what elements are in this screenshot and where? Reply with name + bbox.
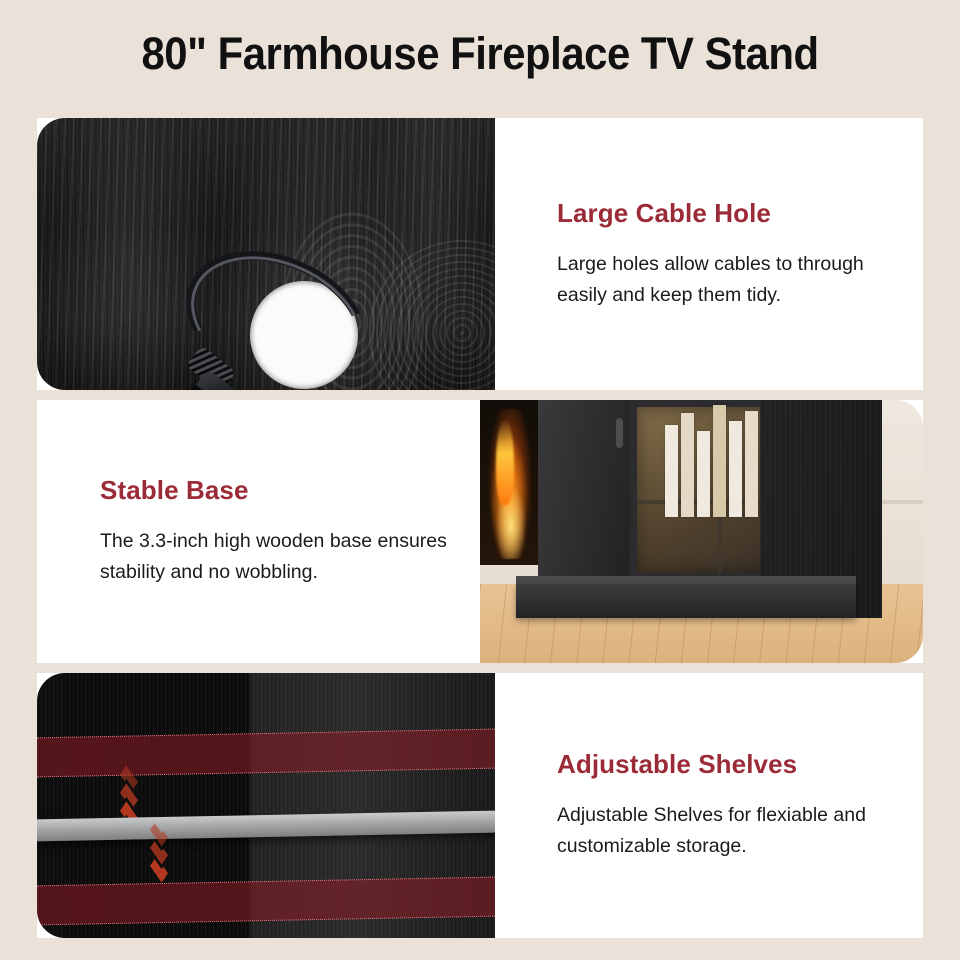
base-plinth [516, 584, 856, 618]
feature-title: Stable Base [100, 475, 456, 506]
book [745, 411, 758, 517]
room-scene [480, 400, 923, 663]
page-title: 80" Farmhouse Fireplace TV Stand [34, 28, 927, 80]
door-handle[interactable] [616, 418, 623, 448]
adjustable-shelves-text-block: Adjustable Shelves Adjustable Shelves fo… [495, 673, 923, 938]
feature-body: Adjustable Shelves for flexiable and cus… [557, 800, 899, 862]
feature-card-adjustable-shelves: Adjustable Shelves Adjustable Shelves fo… [37, 673, 923, 938]
feature-body: Large holes allow cables to through easi… [557, 249, 899, 311]
cable-hole-image [37, 118, 495, 390]
firebox [480, 400, 542, 565]
book [665, 425, 678, 517]
flame-tip [496, 419, 514, 505]
feature-card-large-cable-hole: Large Cable Hole Large holes allow cable… [37, 118, 923, 390]
chevron-down-icon [150, 857, 168, 883]
feature-title: Large Cable Hole [557, 198, 899, 229]
stable-base-image [480, 400, 923, 663]
book [697, 431, 710, 517]
feature-body: The 3.3-inch high wooden base ensures st… [100, 526, 456, 588]
book [729, 421, 742, 517]
chevron-down-group [149, 828, 169, 882]
feature-card-stable-base: Stable Base The 3.3-inch high wooden bas… [37, 400, 923, 663]
stable-base-text-block: Stable Base The 3.3-inch high wooden bas… [37, 400, 480, 663]
book [713, 405, 726, 517]
book [681, 413, 694, 517]
base-plinth-top [516, 576, 856, 584]
cable-hole-text-block: Large Cable Hole Large holes allow cable… [495, 118, 923, 390]
adjustable-shelves-image [37, 673, 495, 938]
feature-title: Adjustable Shelves [557, 749, 899, 780]
